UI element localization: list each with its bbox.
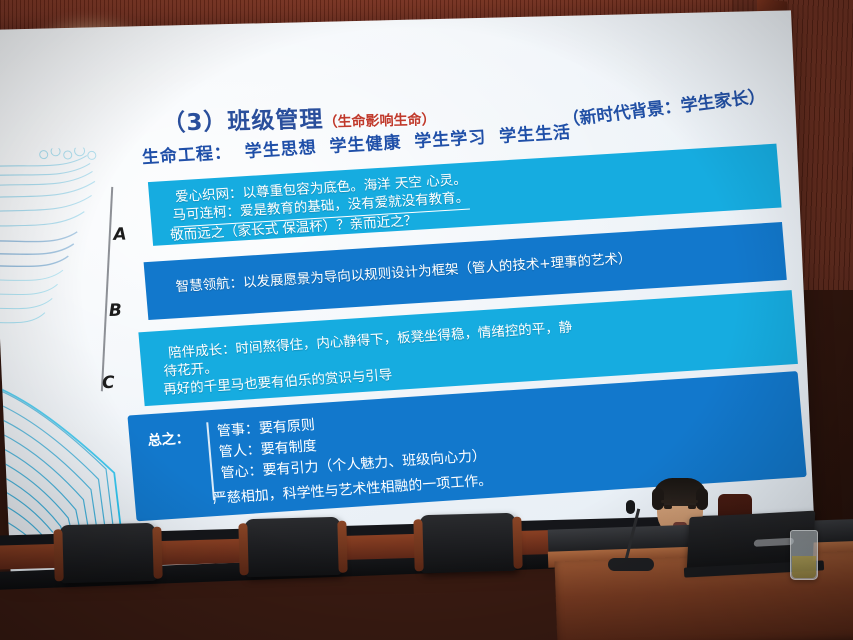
section-c-line-0: 陪伴成长：时间熬得住，内心静得下，板凳坐得稳，情绪控的平，静 [168, 318, 574, 363]
slide-title-right: （新时代背景：学生家长） [561, 82, 767, 131]
empty-chair [59, 523, 156, 583]
subtitle-lead: 生命工程： [141, 143, 232, 168]
laptop-logo [754, 538, 794, 547]
section-label-a: A [113, 225, 127, 245]
slide-title-main: （3）班级管理 [162, 107, 324, 137]
subtitle-item-0: 学生思想 [244, 138, 317, 162]
section-label-b: B [108, 301, 122, 321]
empty-chair [244, 517, 341, 577]
summary-label: 总之： [147, 428, 191, 451]
empty-chair [419, 513, 516, 573]
lecture-hall-photo: （3）班级管理（生命影响生命） （新时代背景：学生家长） 生命工程：学生思想学生… [0, 0, 853, 640]
subtitle-item-2: 学生学习 [414, 128, 487, 152]
section-rail [101, 187, 113, 391]
section-label-c: C [102, 373, 115, 393]
subtitle-item-3: 学生生活 [498, 123, 571, 147]
section-b-line-0: 智慧领航：以发展愿景为导向以规则设计为框架（管人的技术+理事的艺术） [175, 250, 632, 298]
subtitle-item-1: 学生健康 [329, 133, 402, 157]
microphone-base [608, 558, 654, 571]
microphone-head [626, 500, 635, 514]
tea-glass [790, 530, 818, 580]
decorative-lineart-top [0, 147, 131, 361]
